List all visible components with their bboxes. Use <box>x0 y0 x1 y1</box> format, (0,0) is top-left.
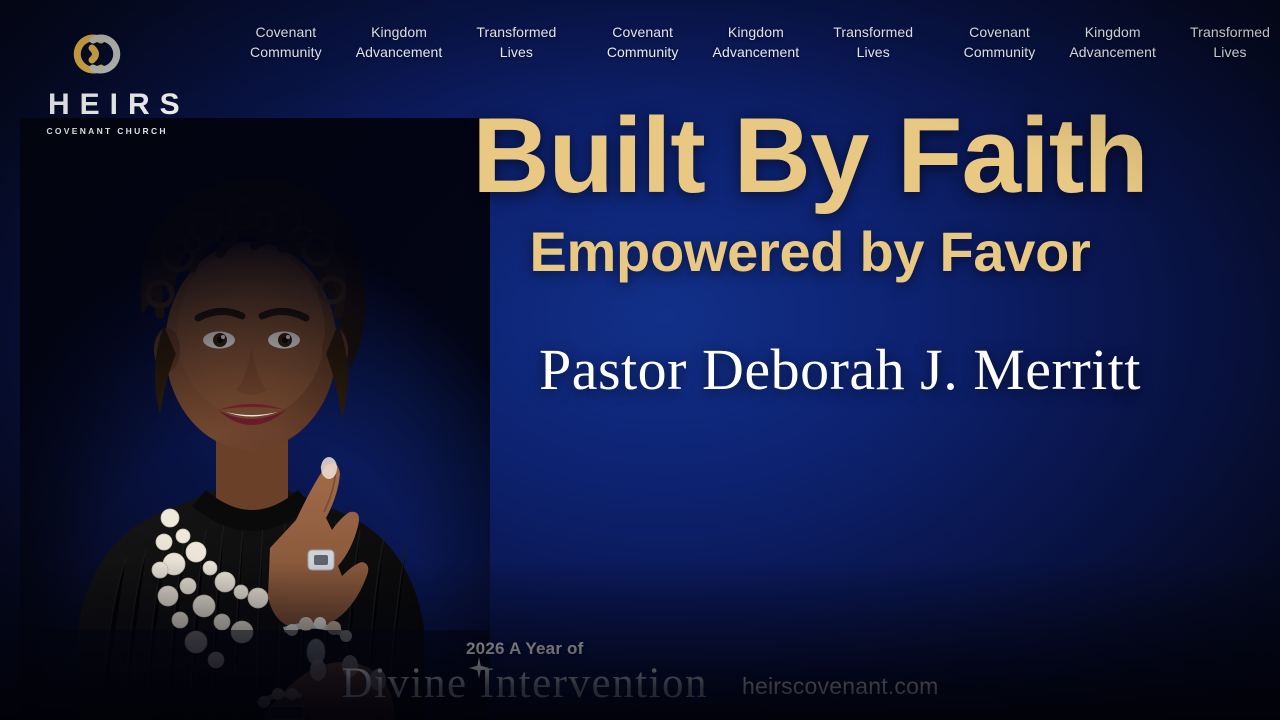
brand-tagline: COVENANT CHURCH <box>38 127 174 136</box>
speaker-name: Pastor Deborah J. Merritt <box>420 338 1260 402</box>
website-url[interactable]: heirscovenant.com <box>742 673 938 706</box>
year-theme: 2026 A Year of Divine Intervention <box>342 639 708 706</box>
pillar-transformed-lives[interactable]: Transformed Lives <box>476 22 556 62</box>
sermon-subtitle: Empowered by Favor <box>365 223 1255 282</box>
pillar-covenant-community[interactable]: Covenant Community <box>964 22 1036 62</box>
footer-block: 2026 A Year of Divine Intervention heirs… <box>0 639 1280 706</box>
theme-name-label: Divine Intervention <box>342 661 708 706</box>
pillar-kingdom-advancement[interactable]: Kingdom Advancement <box>1069 22 1156 62</box>
value-pillars-nav: Covenant Community Kingdom Advancement T… <box>250 22 1270 62</box>
sparkle-icon <box>468 657 490 679</box>
pillar-group-3: Covenant Community Kingdom Advancement T… <box>964 22 1270 62</box>
brand-wordmark: HEIRS <box>38 90 174 120</box>
pillar-kingdom-advancement[interactable]: Kingdom Advancement <box>713 22 800 62</box>
interlocking-rings-icon <box>61 26 151 82</box>
pillar-covenant-community[interactable]: Covenant Community <box>250 22 322 62</box>
pillar-covenant-community[interactable]: Covenant Community <box>607 22 679 62</box>
headline-block: Built By Faith Empowered by Favor <box>365 104 1255 282</box>
pillar-transformed-lives[interactable]: Transformed Lives <box>833 22 913 62</box>
pillar-group-2: Covenant Community Kingdom Advancement T… <box>607 22 913 62</box>
sermon-title: Built By Faith <box>365 104 1255 207</box>
brand-logo[interactable]: HEIRS COVENANT CHURCH <box>38 26 174 136</box>
theme-year-label: 2026 A Year of <box>342 639 708 659</box>
pillar-transformed-lives[interactable]: Transformed Lives <box>1190 22 1270 62</box>
pillar-group-1: Covenant Community Kingdom Advancement T… <box>250 22 556 62</box>
pillar-kingdom-advancement[interactable]: Kingdom Advancement <box>356 22 443 62</box>
slide-canvas: HEIRS COVENANT CHURCH Covenant Community… <box>0 0 1280 720</box>
